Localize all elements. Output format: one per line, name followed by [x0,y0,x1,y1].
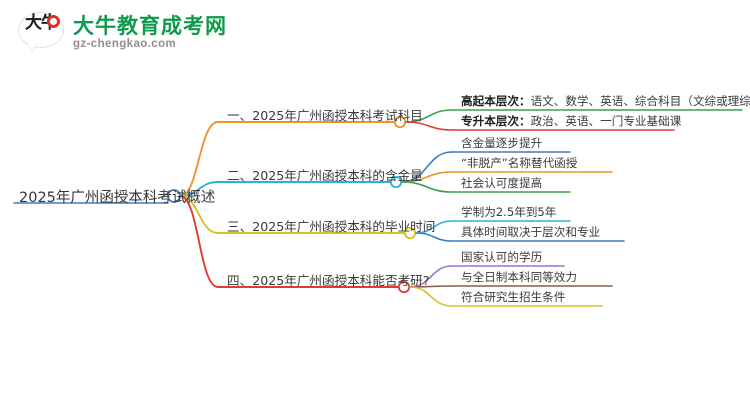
branch-node-label-3-label: 三、2025年广州函授本科的毕业时间 [224,216,438,237]
mindmap-canvas: 大牛 大牛教育成考网 gz-chengkao.com 2025年广州函授本科考试… [0,0,750,410]
branch-node-label-2[interactable]: 二、2025年广州函授本科的含金量 [224,165,426,186]
root-node-label: 2025年广州函授本科考试概述 [16,186,218,209]
leaf-node-label-1-1-label: 高起本层次：语文、数学、英语、综合科目（文综或理综） [458,93,750,111]
branch-node-label-1-label: 一、2025年广州函授本科考试科目 [224,105,426,126]
leaf-node-label-1-2[interactable]: 专升本层次：政治、英语、一门专业基础课 [458,113,684,131]
leaf-node-label-2-1-label: 含金量逐步提升 [458,135,545,153]
leaf-node-label-4-2-label: 与全日制本科同等效力 [458,269,580,287]
branch-curve-1 [180,122,218,196]
branch-node-label-4[interactable]: 四、2025年广州函授本科能否考研? [224,270,432,291]
leaf-node-label-4-3-label: 符合研究生招生条件 [458,289,568,307]
leaf-node-label-4-2[interactable]: 与全日制本科同等效力 [458,269,580,287]
leaf-node-label-3-2-label: 具体时间取决于层次和专业 [458,224,603,242]
leaf-node-label-3-1-label: 学制为2.5年到5年 [458,204,559,222]
leaf-node-label-1-2-label: 专升本层次：政治、英语、一门专业基础课 [458,113,684,131]
leaf-node-label-2-2-label: “非脱产”名称替代函授 [458,155,580,173]
branch-node-label-1[interactable]: 一、2025年广州函授本科考试科目 [224,105,426,126]
leaf-node-label-3-1[interactable]: 学制为2.5年到5年 [458,204,559,222]
leaf-node-label-2-2[interactable]: “非脱产”名称替代函授 [458,155,580,173]
branch-node-label-2-label: 二、2025年广州函授本科的含金量 [224,165,426,186]
branch-curve-4 [180,196,218,287]
leaf-node-label-4-1[interactable]: 国家认可的学历 [458,249,545,267]
leaf-node-label-3-2[interactable]: 具体时间取决于层次和专业 [458,224,603,242]
branch-node-label-4-label: 四、2025年广州函授本科能否考研? [224,270,432,291]
leaf-node-label-1-1[interactable]: 高起本层次：语文、数学、英语、综合科目（文综或理综） [458,93,750,111]
root-node[interactable]: 2025年广州函授本科考试概述 [16,186,218,209]
leaf-node-label-2-3-label: 社会认可度提高 [458,175,545,193]
leaf-node-label-4-1-label: 国家认可的学历 [458,249,545,267]
leaf-node-label-2-3[interactable]: 社会认可度提高 [458,175,545,193]
leaf-node-label-2-1[interactable]: 含金量逐步提升 [458,135,545,153]
leaf-node-label-4-3[interactable]: 符合研究生招生条件 [458,289,568,307]
branch-node-label-3[interactable]: 三、2025年广州函授本科的毕业时间 [224,216,438,237]
